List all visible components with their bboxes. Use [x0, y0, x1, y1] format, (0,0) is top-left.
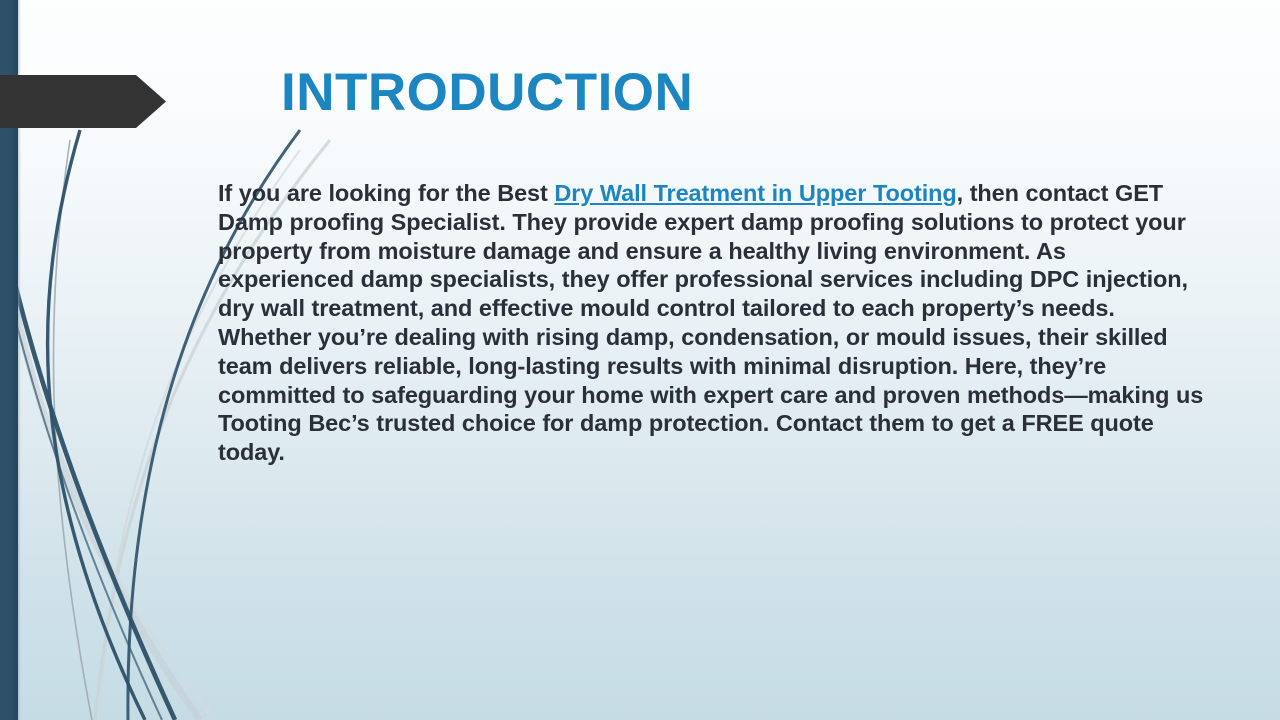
presentation-slide: INTRODUCTION If you are looking for the …: [0, 0, 1280, 720]
body-paragraph: If you are looking for the Best Dry Wall…: [218, 179, 1208, 467]
dry-wall-treatment-link[interactable]: Dry Wall Treatment in Upper Tooting: [554, 180, 956, 206]
body-text-part-1: If you are looking for the Best: [218, 180, 554, 206]
body-text-part-2: , then contact GET Damp proofing Special…: [218, 180, 1203, 465]
title-arrow-banner: [0, 75, 166, 128]
page-title: INTRODUCTION: [281, 64, 693, 122]
